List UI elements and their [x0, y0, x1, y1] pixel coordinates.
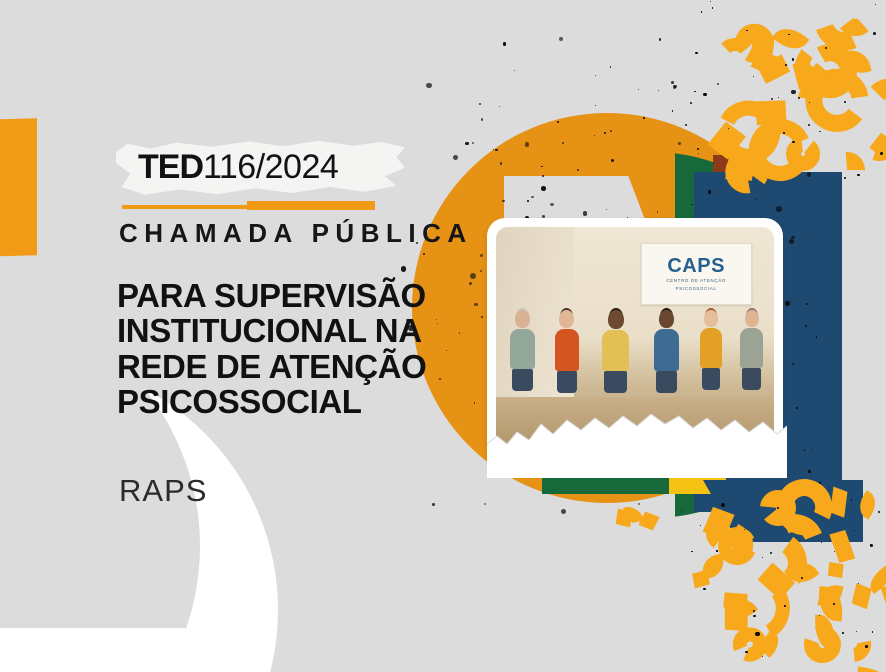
speckle-dot [481, 316, 483, 318]
speckle-dot [658, 90, 659, 91]
speckle-dot [432, 503, 435, 506]
headline: PARA SUPERVISÃO INSTITUCIONAL NA REDE DE… [117, 278, 457, 419]
speckle-dot [583, 211, 587, 215]
speckle-dot [595, 75, 596, 76]
headline-line-2: INSTITUCIONAL NA [117, 313, 457, 348]
speckle-dot [472, 142, 474, 144]
promotional-banner: CAPS CENTRO DE ATENÇÃO PSICOSSOCIAL TED1… [0, 0, 886, 672]
speckle-dot [812, 449, 813, 450]
speckle-dot [514, 70, 515, 71]
speckle-dot [819, 131, 820, 132]
speckle-dot [480, 254, 483, 257]
speckle-dot [713, 163, 714, 164]
ted-prefix: TED [138, 148, 203, 186]
speckle-dot [796, 407, 798, 409]
speckle-dot [618, 515, 620, 517]
speckle-dot [792, 363, 794, 365]
speckle-dot [480, 270, 482, 272]
orange-rule-thin [122, 205, 257, 209]
subline-text: RAPS [119, 473, 207, 509]
speckle-dot [659, 38, 661, 40]
person-head [659, 310, 674, 328]
photo-person [543, 310, 590, 443]
speckle-dot [426, 83, 432, 89]
photo-person [730, 310, 774, 443]
ted-number: 116/2024 [203, 148, 338, 186]
person-legs [557, 371, 577, 393]
person-legs [742, 368, 761, 390]
speckle-dot [806, 303, 807, 304]
speckle-dot [804, 449, 805, 450]
speckle-dot [804, 233, 805, 234]
speckle-dot [771, 98, 773, 100]
speckle-dot [672, 110, 673, 111]
speckle-dot [717, 83, 718, 84]
speckle-dot [685, 124, 687, 126]
speckle-dot [453, 155, 458, 160]
speckle-dot [559, 37, 563, 41]
headline-line-3: REDE DE ATENÇÃO [117, 349, 457, 384]
speckle-dot [708, 190, 711, 193]
person-head [745, 310, 759, 327]
speckle-dot [469, 282, 472, 285]
speckle-dot [737, 140, 739, 142]
speckle-dot [816, 336, 818, 338]
speckle-dot [674, 85, 677, 88]
speckle-dot [595, 105, 596, 106]
speckle-dot [678, 142, 681, 145]
speckle-dot [459, 332, 460, 333]
speckle-dot [474, 402, 475, 403]
speckle-dot [606, 209, 607, 210]
speckle-dot [611, 159, 614, 162]
speckle-dot [557, 121, 559, 123]
speckle-dot [594, 135, 595, 136]
person-head [559, 310, 574, 328]
speckle-dot [493, 149, 494, 150]
speckle-dot [541, 166, 542, 167]
speckle-dot [657, 211, 658, 212]
person-torso [700, 328, 722, 368]
speckle-dot [791, 301, 792, 302]
speckle-dot [604, 132, 606, 134]
speckle-dot [805, 325, 807, 327]
speckle-dot [527, 200, 529, 202]
photo-person [591, 310, 641, 443]
speckle-dot [638, 503, 640, 505]
speckle-dot [479, 103, 482, 106]
caps-sign: CAPS CENTRO DE ATENÇÃO PSICOSSOCIAL [641, 243, 752, 305]
speckle-dot [562, 142, 564, 144]
speckle-dot [465, 142, 468, 145]
speckle-dot [638, 89, 639, 90]
photo-card: CAPS CENTRO DE ATENÇÃO PSICOSSOCIAL [487, 218, 783, 466]
speckle-dot [785, 301, 790, 306]
person-torso [602, 330, 629, 371]
ted-code-badge: TED116/2024 [116, 139, 405, 199]
orange-rule-thick [247, 201, 375, 210]
kicker-text: CHAMADA PÚBLICA [119, 218, 473, 249]
person-torso [510, 329, 535, 369]
person-head [608, 310, 624, 329]
speckle-dot [401, 266, 407, 272]
speckle-dot [542, 175, 544, 177]
speckle-dot [747, 181, 749, 183]
person-legs [656, 371, 677, 393]
person-torso [654, 329, 679, 371]
speckle-dot [474, 303, 478, 307]
speckle-dot [550, 203, 553, 206]
speckle-dot [525, 142, 529, 146]
caps-sign-title: CAPS [667, 256, 725, 276]
headline-line-4: PSICOSSOCIAL [117, 384, 457, 419]
caps-sign-subtitle-line2: PSICOSSOCIAL [676, 286, 717, 292]
speckle-dot [643, 117, 644, 118]
speckle-dot [499, 106, 500, 107]
speckle-dot [484, 503, 486, 505]
group-therapy-photo: CAPS CENTRO DE ATENÇÃO PSICOSSOCIAL [496, 227, 774, 457]
speckle-dot [541, 186, 546, 191]
speckle-dot [531, 196, 534, 199]
speckle-dot [808, 124, 810, 126]
speckle-dot [561, 509, 566, 514]
person-torso [740, 328, 763, 368]
speckle-dot [423, 253, 425, 255]
photo-person [643, 310, 690, 443]
speckle-dot [671, 81, 674, 84]
person-head [515, 310, 530, 328]
white-crescent-fill [0, 628, 250, 672]
speckle-dot [500, 162, 502, 164]
ted-code-text: TED116/2024 [138, 150, 338, 184]
speckle-dot [789, 239, 794, 244]
person-legs [702, 368, 720, 390]
speckle-dot [495, 149, 498, 152]
speckle-dot [481, 118, 483, 120]
speckle-dot [577, 169, 579, 171]
photo-person [691, 310, 733, 443]
person-head [704, 310, 718, 327]
headline-line-1: PARA SUPERVISÃO [117, 278, 457, 313]
speckle-dot [610, 66, 611, 67]
speckle-dot [610, 130, 612, 132]
speckle-dot [502, 200, 504, 202]
caps-sign-subtitle-line1: CENTRO DE ATENÇÃO [666, 278, 726, 284]
speckle-dot [503, 42, 507, 46]
photo-person [499, 310, 546, 443]
speckle-dot [681, 510, 682, 511]
speckle-dot [807, 172, 811, 176]
speckle-dot [630, 508, 631, 509]
person-legs [512, 369, 533, 391]
speckle-dot [470, 273, 476, 279]
speckle-dot [791, 90, 796, 95]
speckle-dot [691, 204, 692, 205]
person-torso [555, 329, 579, 371]
person-legs [604, 371, 627, 393]
speckle-dot [776, 206, 781, 211]
